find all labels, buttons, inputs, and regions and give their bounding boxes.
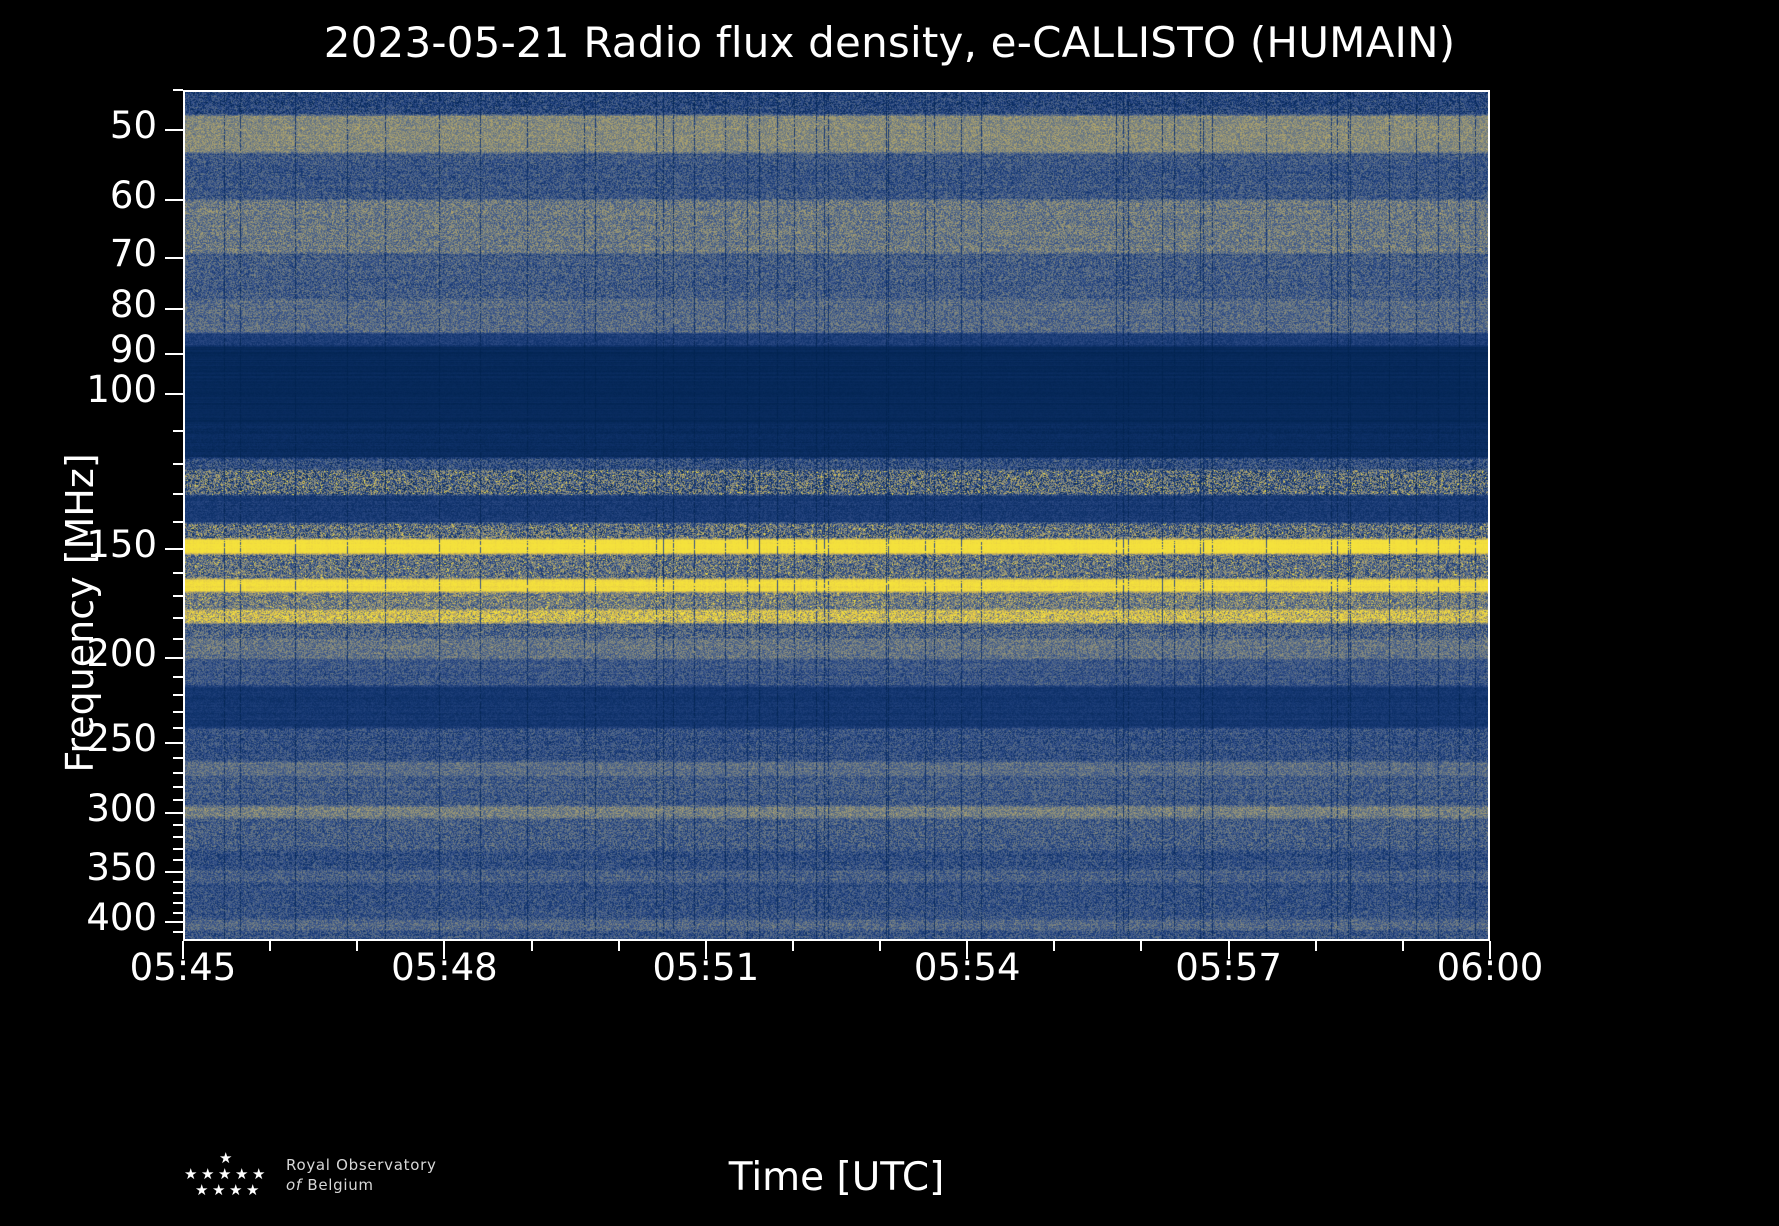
- y-axis-minor-tick: [173, 676, 183, 678]
- star-icon: ★: [252, 1167, 265, 1182]
- x-axis-minor-tick: [618, 941, 620, 951]
- y-axis-tick-label: 50: [110, 104, 157, 147]
- x-axis-tick-label: 05:45: [130, 946, 237, 989]
- x-axis-minor-tick: [1315, 941, 1317, 951]
- x-axis-minor-tick: [356, 941, 358, 951]
- y-axis-tick-label: 100: [86, 368, 157, 411]
- x-axis-tick-label: 05:54: [914, 946, 1021, 989]
- y-axis-major-tick: [165, 353, 183, 355]
- x-axis-minor-tick: [269, 941, 271, 951]
- x-axis-minor-tick: [531, 941, 533, 951]
- y-axis-minor-tick: [173, 493, 183, 495]
- y-axis-major-tick: [165, 812, 183, 814]
- star-icon: ★: [235, 1167, 248, 1182]
- logo-of-word: of: [286, 1176, 302, 1194]
- x-axis-tick-label: 05:51: [652, 946, 759, 989]
- y-axis-minor-tick: [173, 824, 183, 826]
- y-axis-minor-tick: [173, 711, 183, 713]
- x-axis-minor-tick: [1402, 941, 1404, 951]
- star-icon: ★: [201, 1167, 214, 1182]
- y-axis-major-tick: [165, 742, 183, 744]
- x-axis-minor-tick: [1053, 941, 1055, 951]
- eu-stars-icon: ★★★★★★★★★★: [176, 1151, 296, 1209]
- y-axis-tick-label: 250: [86, 717, 157, 760]
- y-axis-minor-tick: [173, 772, 183, 774]
- y-axis-minor-tick: [173, 836, 183, 838]
- star-icon: ★: [229, 1183, 242, 1198]
- y-axis-tick-label: 70: [110, 232, 157, 275]
- figure-canvas: 2023-05-21 Radio flux density, e-CALLIST…: [0, 0, 1779, 1226]
- y-axis-tick-label: 300: [86, 787, 157, 830]
- y-axis-tick-label: 90: [110, 328, 157, 371]
- royal-observatory-logo: ★★★★★★★★★★ Royal Observatory of Belgium: [176, 1151, 476, 1213]
- y-axis-label: Frequency [MHz]: [50, 0, 110, 1226]
- y-axis-minor-tick: [173, 572, 183, 574]
- y-axis-major-tick: [165, 393, 183, 395]
- y-axis-tick-label: 150: [86, 523, 157, 566]
- spectrogram-plot-area[interactable]: [183, 90, 1490, 941]
- logo-country: Belgium: [307, 1176, 373, 1194]
- y-axis-minor-tick: [173, 848, 183, 850]
- y-axis-minor-tick: [173, 463, 183, 465]
- y-axis-minor-tick: [173, 638, 183, 640]
- x-axis-minor-tick: [792, 941, 794, 951]
- x-axis-minor-tick: [879, 941, 881, 951]
- y-axis-minor-tick: [173, 757, 183, 759]
- y-axis-major-tick: [165, 548, 183, 550]
- spectrogram-image: [183, 90, 1490, 941]
- y-axis-minor-tick: [173, 799, 183, 801]
- y-axis-minor-tick: [173, 892, 183, 894]
- star-icon: ★: [219, 1151, 232, 1166]
- y-axis-minor-tick: [173, 881, 183, 883]
- logo-text: Royal Observatory of Belgium: [286, 1155, 437, 1195]
- y-axis-tick-label: 60: [110, 174, 157, 217]
- y-axis-major-tick: [165, 657, 183, 659]
- y-axis-minor-tick: [173, 902, 183, 904]
- x-axis-tick-label: 06:00: [1437, 946, 1544, 989]
- x-axis-tick-label: 05:57: [1175, 946, 1282, 989]
- y-axis-major-tick: [165, 199, 183, 201]
- y-axis-minor-tick: [173, 694, 183, 696]
- y-axis-tick-label: 350: [86, 846, 157, 889]
- y-axis-tick-label: 200: [86, 632, 157, 675]
- star-icon: ★: [184, 1167, 197, 1182]
- y-axis-major-tick: [165, 308, 183, 310]
- star-icon: ★: [212, 1183, 225, 1198]
- y-axis-minor-tick: [173, 617, 183, 619]
- y-axis-major-tick: [165, 257, 183, 259]
- y-axis-minor-tick: [173, 89, 183, 91]
- y-axis-minor-tick: [173, 912, 183, 914]
- y-axis-minor-tick: [173, 931, 183, 933]
- y-axis-major-tick: [165, 871, 183, 873]
- y-axis-minor-tick: [173, 859, 183, 861]
- x-axis-tick-label: 05:48: [391, 946, 498, 989]
- logo-line-2: of Belgium: [286, 1175, 437, 1195]
- y-axis-minor-tick: [173, 430, 183, 432]
- y-axis-major-tick: [165, 129, 183, 131]
- x-axis-minor-tick: [1140, 941, 1142, 951]
- y-axis-major-tick: [165, 921, 183, 923]
- star-icon: ★: [218, 1167, 231, 1182]
- y-axis-minor-tick: [173, 595, 183, 597]
- y-axis-minor-tick: [173, 727, 183, 729]
- y-axis-tick-label: 80: [110, 283, 157, 326]
- star-icon: ★: [246, 1183, 259, 1198]
- logo-line-1: Royal Observatory: [286, 1155, 437, 1175]
- star-icon: ★: [195, 1183, 208, 1198]
- y-axis-minor-tick: [173, 521, 183, 523]
- chart-title: 2023-05-21 Radio flux density, e-CALLIST…: [0, 18, 1779, 67]
- y-axis-tick-label: 400: [86, 896, 157, 939]
- y-axis-minor-tick: [173, 786, 183, 788]
